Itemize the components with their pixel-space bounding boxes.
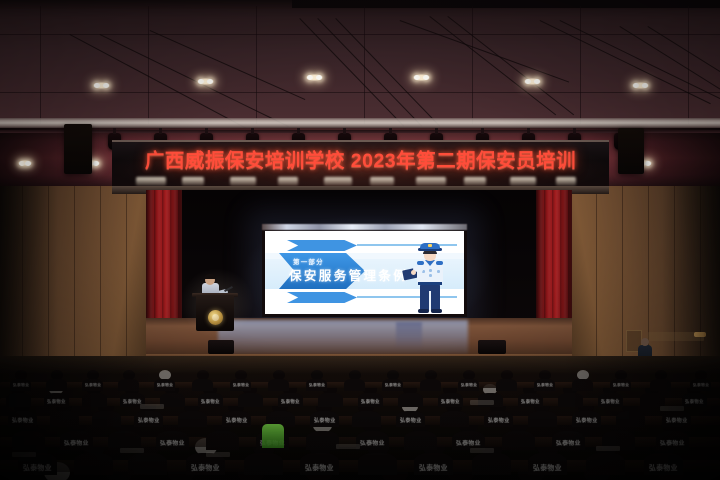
ceiling-downlight [632, 82, 649, 89]
ceiling-downlight [306, 74, 323, 81]
ceiling-seam [256, 6, 257, 124]
audience-shoulders [92, 411, 121, 427]
ceiling-seam [688, 6, 689, 124]
led-banner: 广西威振保安培训学校 2023年第二期保安员培训 [112, 140, 609, 190]
banner-reflection [324, 177, 352, 186]
ceiling-seam [40, 6, 41, 124]
audience-area: 弘泰物业弘泰物业弘泰物业弘泰物业弘泰物业弘泰物业弘泰物业弘泰物业弘泰物业弘泰物业… [0, 356, 720, 480]
banner-reflection [230, 177, 256, 186]
ceiling-downlight [413, 74, 430, 81]
projection-screen: 第一部分 保安服务管理条例 [262, 224, 467, 317]
uniform-back-text: 弘泰物业 [400, 417, 422, 424]
banner-reflection [416, 177, 446, 186]
screen-top-reflection [262, 224, 467, 230]
audience-shoulders [178, 411, 207, 427]
uniform-back-text: 弘泰物业 [157, 383, 173, 388]
audience-shoulders [306, 431, 339, 450]
uniform-back-text: 弘泰物业 [685, 399, 704, 405]
ceiling [0, 0, 720, 128]
audience-shoulders [404, 431, 437, 450]
desk-paper [336, 444, 360, 449]
ceiling-seam [472, 6, 473, 124]
uniform-back-text: 弘泰物业 [23, 462, 52, 472]
ceiling-downlight [93, 82, 110, 89]
uniform-back-text: 弘泰物业 [360, 438, 385, 447]
ceiling-dark-block [292, 0, 720, 8]
guard-leg-split [429, 291, 431, 311]
floor-monitor-left [208, 340, 234, 354]
uniform-back-text: 弘泰物业 [201, 399, 220, 405]
audience-shoulders [420, 379, 441, 391]
banner-reflection [278, 177, 298, 186]
uniform-back-text: 弘泰物业 [461, 383, 477, 388]
audience-shoulders [268, 379, 289, 391]
audience-glow-band [0, 356, 720, 374]
ceiling-seam [148, 6, 149, 124]
wall-sconce-light [694, 332, 706, 337]
uniform-back-text: 弘泰物业 [64, 438, 89, 447]
uniform-back-text: 弘泰物业 [693, 383, 709, 388]
guard-shoe-left [418, 309, 429, 313]
uniform-back-text: 弘泰物业 [533, 462, 562, 472]
ceiling-seam [580, 6, 581, 124]
slide-chevron-top-icon [287, 240, 357, 251]
uniform-back-text: 弘泰物业 [537, 383, 553, 388]
audience-shoulders [344, 379, 365, 391]
guard-button [429, 269, 432, 272]
guard-hand [411, 270, 416, 275]
audience-shoulders [586, 453, 625, 475]
audience-shoulders [502, 431, 535, 450]
audience-shoulders [572, 379, 593, 391]
ceiling-seam-horizontal [0, 34, 720, 35]
uniform-back-text: 弘泰物业 [441, 399, 460, 405]
stage-floor-reflection [218, 320, 468, 354]
ceiling-downlight [524, 78, 541, 85]
audience-shoulders [640, 393, 665, 407]
desk-paper [140, 404, 164, 409]
uniform-back-text: 弘泰物业 [601, 399, 620, 405]
presenter-hair [204, 274, 216, 279]
uniform-back-text: 弘泰物业 [361, 399, 380, 405]
uniform-back-text: 弘泰物业 [305, 462, 334, 472]
hi-viz-attendee [262, 424, 284, 448]
uniform-back-text: 弘泰物业 [160, 438, 185, 447]
guard-button [437, 270, 440, 273]
auditorium-photo: 广西威振保安培训学校 2023年第二期保安员培训 第一部分 保安服务管理条例 [0, 0, 720, 480]
uniform-back-text: 弘泰物业 [138, 417, 160, 424]
ceiling-cable [647, 26, 720, 96]
audience-shoulders [244, 453, 283, 475]
audience-shoulders [318, 393, 343, 407]
banner-reflection [510, 177, 536, 186]
uniform-back-text: 弘泰物业 [226, 417, 248, 424]
uniform-back-text: 弘泰物业 [576, 417, 598, 424]
audience-shoulders [206, 431, 239, 450]
slide-title: 保安服务管理条例 [289, 265, 408, 284]
ceiling-cable [447, 16, 574, 115]
audience-shoulders [12, 431, 45, 450]
uniform-back-text: 弘泰物业 [191, 462, 220, 472]
right-speaker-box [618, 128, 644, 174]
guard-epaulette-right [436, 261, 443, 265]
uniform-back-text: 弘泰物业 [281, 399, 300, 405]
audience-shoulders [6, 393, 31, 407]
slide-chevron-bottom-icon [287, 292, 357, 303]
uniform-back-text: 弘泰物业 [613, 383, 629, 388]
guard-cap-badge-icon [428, 244, 432, 247]
audience-shoulders [440, 411, 469, 427]
audience-shoulders [496, 379, 517, 391]
uniform-back-text: 弘泰物业 [456, 438, 481, 447]
uniform-back-text: 弘泰物业 [660, 438, 685, 447]
audience-shoulders [558, 393, 583, 407]
audience-shoulders [352, 411, 381, 427]
stage-curtain-left [146, 190, 182, 330]
uniform-back-text: 弘泰物业 [47, 399, 66, 405]
desk-paper [660, 406, 684, 411]
ceiling-seam-horizontal [0, 92, 720, 93]
upper-wall-downlight [18, 160, 32, 166]
uniform-back-text: 弘泰物业 [385, 383, 401, 388]
ceiling-downlight [197, 78, 214, 85]
audience-shoulders [118, 379, 139, 391]
audience-shoulders [650, 379, 671, 391]
audience-shoulders [74, 453, 113, 475]
uniform-back-text: 弘泰物业 [309, 383, 325, 388]
security-guard-illustration [413, 243, 447, 313]
podium-emblem [208, 310, 223, 325]
standing-attendee-head [641, 338, 649, 346]
desk-paper [596, 446, 620, 451]
uniform-back-text: 弘泰物业 [649, 462, 678, 472]
guard-belt [418, 282, 442, 285]
guard-shoe-right [431, 309, 442, 313]
desk-paper [470, 448, 494, 453]
audience-shoulders [50, 411, 79, 427]
floor-monitor-right [478, 340, 506, 354]
audience-shoulders [398, 393, 423, 407]
banner-reflection [556, 177, 576, 186]
uniform-back-text: 弘泰物业 [419, 462, 448, 472]
uniform-back-text: 弘泰物业 [521, 399, 540, 405]
audience-shoulders [472, 453, 511, 475]
uniform-back-text: 弘泰物业 [233, 383, 249, 388]
banner-reflection [370, 177, 394, 186]
ceiling-valance [0, 118, 720, 128]
desk-paper [470, 400, 494, 405]
banner-title: 广西威振保安培训学校 2023年第二期保安员培训 [112, 150, 609, 172]
desk-paper [206, 452, 230, 457]
banner-reflection [182, 177, 204, 186]
audience-shoulders [46, 379, 67, 391]
uniform-back-text: 弘泰物业 [666, 417, 688, 424]
uniform-back-text: 弘泰物业 [314, 417, 336, 424]
uniform-back-text: 弘泰物业 [85, 383, 101, 388]
banner-reflection [464, 177, 486, 186]
audience-shoulders [238, 393, 263, 407]
stage-floor-reflection-figure [396, 322, 422, 350]
lighting-truss [0, 130, 720, 133]
uniform-back-text: 弘泰物业 [556, 438, 581, 447]
stage-curtain-right [536, 190, 572, 330]
uniform-back-text: 弘泰物业 [13, 383, 29, 388]
audience-shoulders [358, 453, 397, 475]
uniform-back-text: 弘泰物业 [12, 417, 34, 424]
audience-shoulders [192, 379, 213, 391]
ceiling-cable [70, 34, 247, 128]
left-speaker-box [64, 124, 92, 174]
guard-epaulette-left [417, 261, 424, 265]
banner-reflection [136, 177, 166, 186]
guard-button [429, 274, 432, 277]
desk-paper [12, 452, 36, 457]
uniform-back-text: 弘泰物业 [488, 417, 510, 424]
audience-shoulders [528, 411, 557, 427]
audience-shoulders [82, 393, 107, 407]
audience-shoulders [128, 453, 167, 475]
audience-shoulders [616, 411, 645, 427]
desk-paper [120, 448, 144, 453]
presentation-slide: 第一部分 保安服务管理条例 [265, 231, 464, 314]
uniform-back-text: 弘泰物业 [123, 399, 142, 405]
ceiling-cable [429, 16, 556, 115]
